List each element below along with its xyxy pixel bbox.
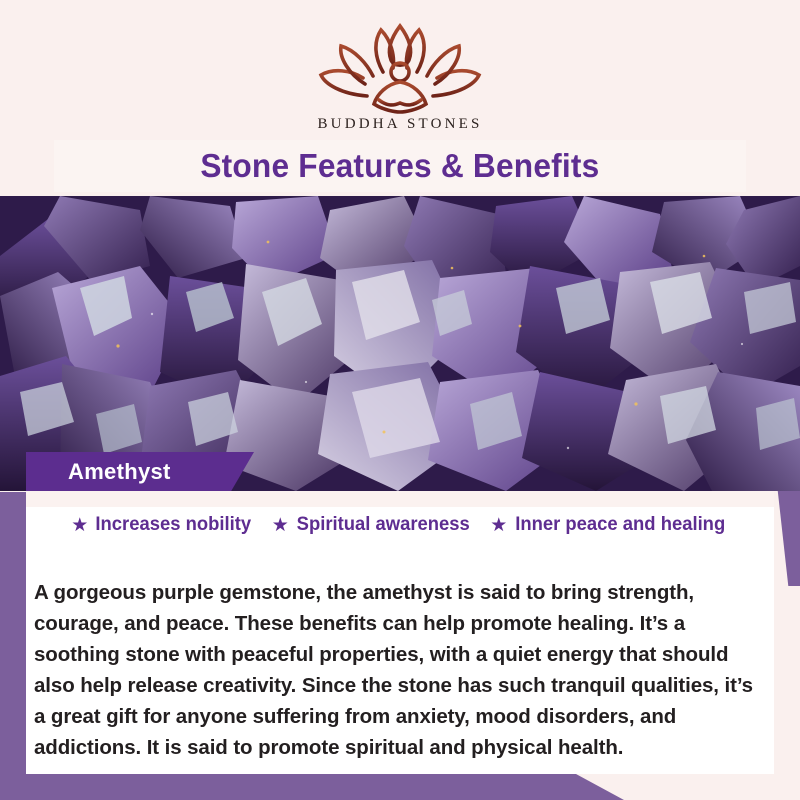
lotus-meditation-figure-icon: [305, 18, 495, 114]
feature-label: Increases nobility: [96, 514, 252, 536]
feature-item-3: ★ Inner peace and healing: [490, 514, 729, 536]
star-icon: ★: [490, 516, 507, 535]
stone-name-label: Amethyst: [68, 459, 171, 485]
feature-list: ★ Increases nobility ★ Spiritual awarene…: [26, 514, 774, 536]
feature-item-2: ★ Spiritual awareness: [272, 514, 473, 536]
header-section: BUDDHA STONES Stone Features & Benefits: [0, 0, 800, 196]
amethyst-hero-image: [0, 196, 800, 491]
crystal-cluster-illustration: [0, 196, 800, 491]
star-icon: ★: [272, 516, 289, 535]
brand-name: BUDDHA STONES: [0, 116, 800, 133]
feature-label: Inner peace and healing: [516, 514, 726, 536]
frame-border-bottom: [0, 774, 800, 800]
feature-item-1: ★ Increases nobility: [71, 514, 254, 536]
content-top-strip: [26, 491, 774, 507]
frame-border-left: [0, 492, 26, 800]
feature-label: Spiritual awareness: [296, 514, 469, 536]
page-title: Stone Features & Benefits: [200, 147, 599, 185]
page-title-band: Stone Features & Benefits: [54, 140, 746, 192]
brand-logo: BUDDHA STONES: [0, 18, 800, 133]
stone-description: A gorgeous purple gemstone, the amethyst…: [34, 577, 756, 763]
stone-name-banner: Amethyst: [26, 452, 254, 491]
star-icon: ★: [71, 516, 88, 535]
infographic-page: BUDDHA STONES Stone Features & Benefits: [0, 0, 800, 800]
